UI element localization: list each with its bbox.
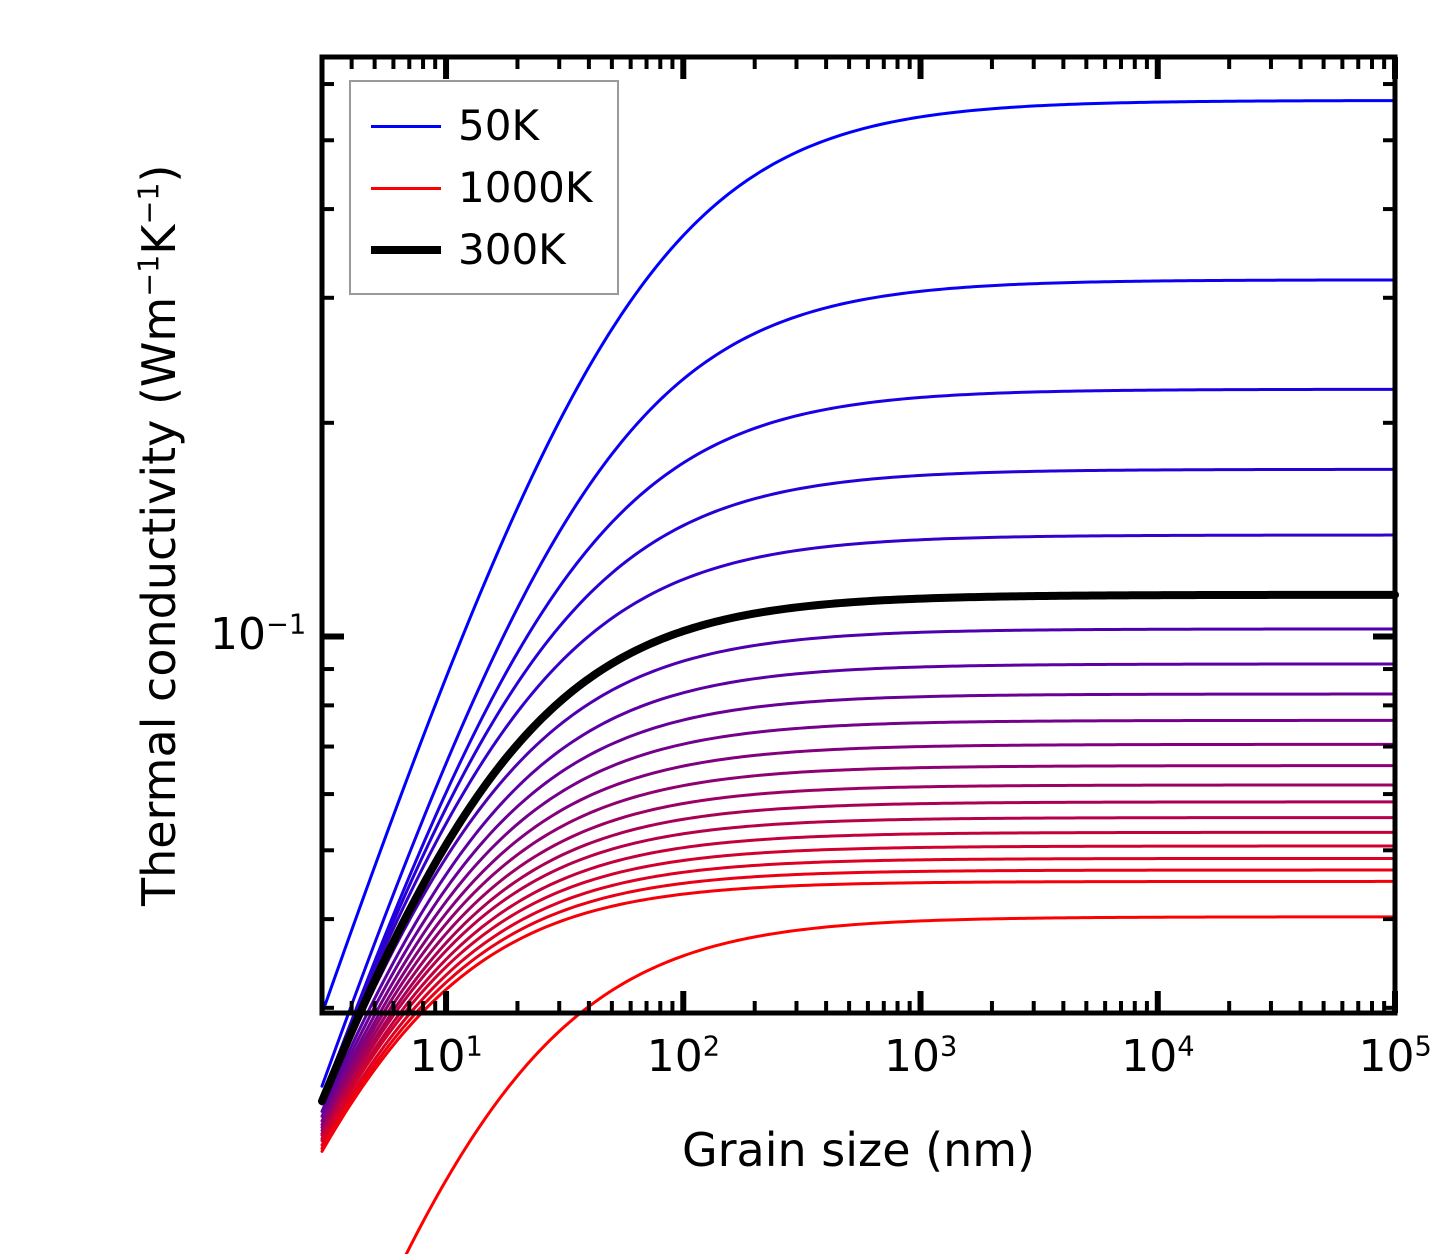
y-tick-exponent: −1 [266, 609, 306, 640]
y-axis-label-mid: K [132, 224, 186, 254]
curve-950k [322, 870, 1395, 1148]
x-tick-exponent: 4 [1177, 1031, 1194, 1062]
curve-500k [322, 720, 1395, 1121]
x-tick-label: 104 [1121, 1031, 1194, 1082]
x-tick-exponent: 2 [703, 1031, 720, 1062]
curve-1000k [322, 917, 1395, 1254]
x-tick-base: 10 [884, 1031, 940, 1082]
x-tick-base: 10 [647, 1031, 703, 1082]
x-axis-label: Grain size (nm) [682, 1123, 1035, 1177]
x-tick-label: 102 [647, 1031, 720, 1082]
y-tick-label: 10−1 [210, 609, 306, 660]
x-tick-label: 103 [884, 1031, 957, 1082]
curve-800k [322, 832, 1395, 1138]
legend-line-swatch [371, 187, 441, 190]
y-axis-label-sup1: −1 [133, 254, 166, 296]
x-tick-exponent: 3 [940, 1031, 957, 1062]
legend-entry-300k[interactable]: 300K [351, 220, 621, 280]
curve-650k [322, 785, 1395, 1131]
y-axis-label-main: Thermal conductivity (Wm [132, 296, 186, 905]
curve-900k [322, 858, 1395, 1145]
legend-label: 300K [458, 229, 566, 271]
legend-entry-50k[interactable]: 50K [351, 96, 621, 156]
curve-700k [322, 802, 1395, 1134]
legend-line-swatch [371, 246, 441, 254]
y-axis-label: Thermal conductivity (Wm−1K−1) [132, 164, 186, 905]
y-axis-label-sup2: −1 [133, 182, 166, 224]
x-tick-base: 10 [410, 1031, 466, 1082]
curve-400k [322, 664, 1395, 1111]
curve-975k [322, 881, 1395, 1151]
legend-line-swatch [371, 125, 441, 128]
legend-label: 1000K [458, 167, 592, 209]
curve-850k [322, 846, 1395, 1141]
x-tick-exponent: 1 [466, 1031, 483, 1062]
y-tick-base: 10 [210, 609, 266, 660]
y-axis-label-tail: ) [132, 164, 186, 182]
legend-entry-1000k[interactable]: 1000K [351, 158, 621, 218]
curve-100k [322, 280, 1395, 1086]
legend[interactable]: 50K1000K300K [349, 80, 619, 295]
x-tick-base: 10 [1359, 1031, 1415, 1082]
x-tick-exponent: 5 [1415, 1031, 1432, 1062]
x-tick-base: 10 [1121, 1031, 1177, 1082]
legend-label: 50K [458, 105, 539, 147]
curve-750k [322, 818, 1395, 1135]
x-tick-label: 101 [410, 1031, 483, 1082]
figure-canvas: Thermal conductivity (Wm−1K−1) Grain siz… [0, 0, 1454, 1254]
x-tick-label: 105 [1359, 1031, 1432, 1082]
